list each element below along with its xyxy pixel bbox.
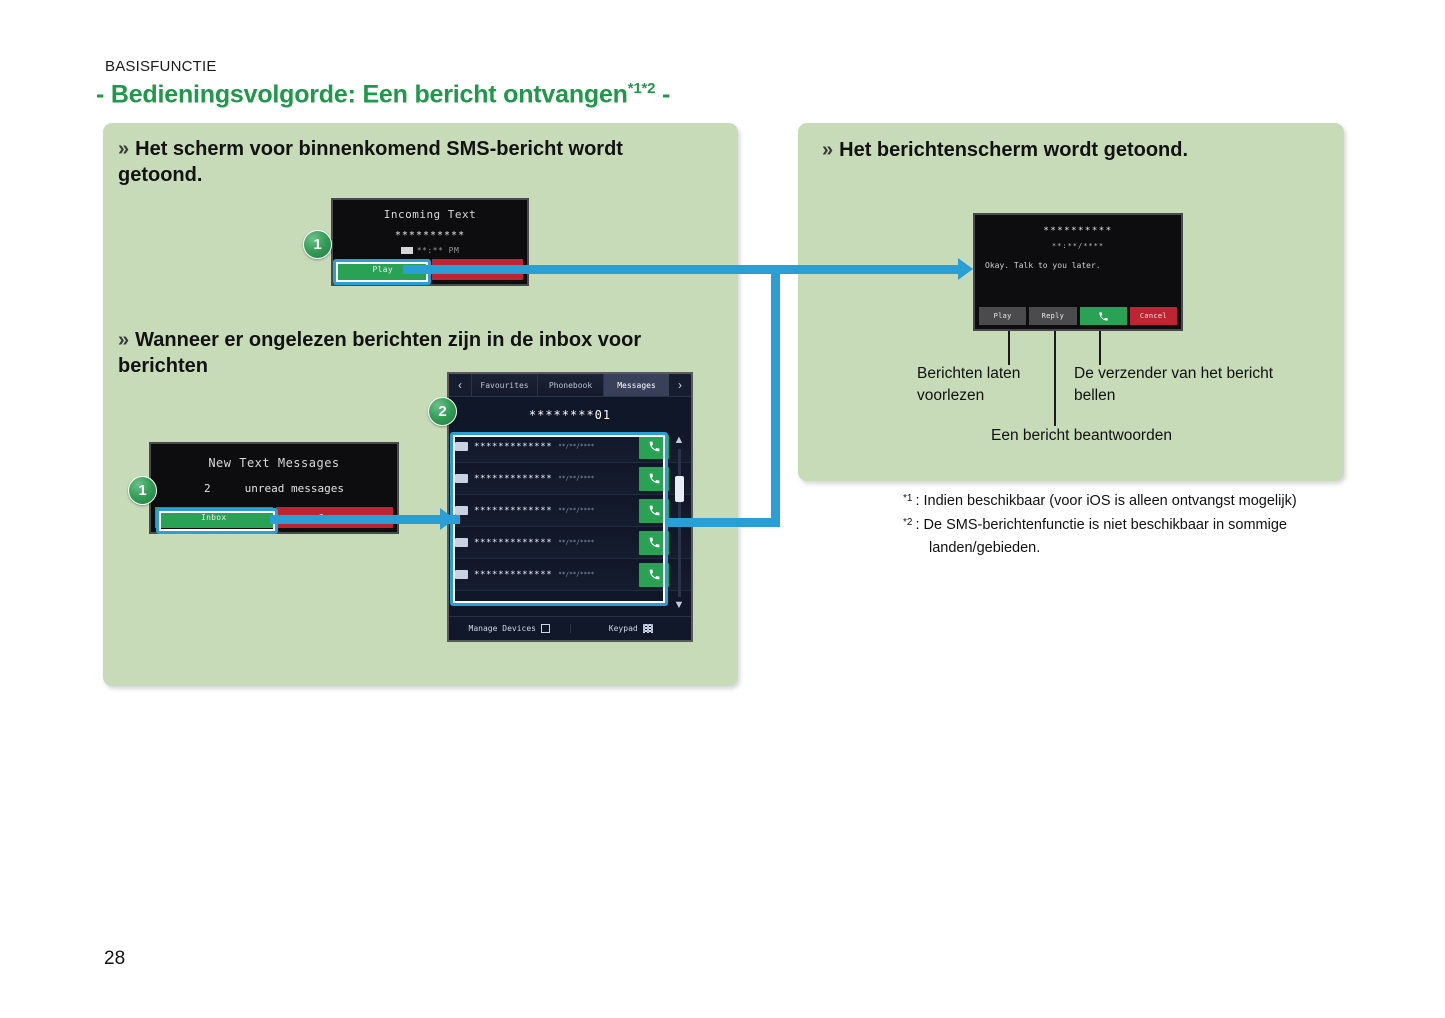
incoming-screen-title: Incoming Text [333,208,527,221]
footnote-1-mark: *1 [903,491,912,515]
footnote-2-continuation: landen/gebieden. [929,538,1353,560]
chevron-up-icon[interactable]: ▲ [674,435,685,446]
arrow-line-row-h [665,518,780,527]
footnotes: *1 : Indien beschikbaar (voor iOS is all… [903,491,1353,560]
list-tabbar: ‹ Favourites Phonebook Messages › [449,374,691,397]
detail-number: **:**/**** [975,242,1181,250]
newmsg-count: 2 [204,482,211,495]
envelope-icon [401,247,413,254]
footnote-1-mark-text: *1 [903,493,912,504]
scrollbar-thumb[interactable] [675,476,684,502]
newmsg-title: New Text Messages [151,456,397,470]
list-screen-title: ********01 [449,397,691,431]
step-badge-1b: 1 [128,476,157,505]
device-icon [541,624,550,633]
list-footer-bar: Manage Devices Keypad [449,616,691,640]
chevron-double-right-icon-3: » [822,139,833,161]
envelope-icon [455,506,468,515]
detail-reply-button[interactable]: Reply [1029,307,1076,325]
footnote-2: *2 : De SMS-berichtenfunctie is niet bes… [903,515,1353,539]
manual-page: BASISFUNCTIE - Bedieningsvolgorde: Een b… [0,0,1445,1018]
message-rows: ************* **/**/**** ************* *… [449,431,691,591]
phone-icon[interactable] [639,563,669,587]
row-sender: ************* [474,442,552,452]
row-date: **/**/**** [558,507,639,514]
table-row[interactable]: ************* **/**/**** [449,431,691,463]
step-1-heading-text: Het scherm voor binnenkomend SMS-bericht… [118,138,623,186]
tab-forward-icon[interactable]: › [669,374,691,396]
detail-button-row: Play Reply Cancel [979,307,1177,325]
page-title-tail: - [655,80,670,108]
footnote-1: *1 : Indien beschikbaar (voor iOS is all… [903,491,1353,515]
callout-call-label: De verzender van het bericht bellen [1074,363,1274,408]
keypad-label: Keypad [609,624,638,633]
leader-line-reply [1054,331,1056,426]
detail-sender: ********** [975,226,1181,236]
arrow-line-inbox [270,515,460,524]
incoming-time-text: **:** PM [417,246,460,255]
step-1-heading: »Het scherm voor binnenkomend SMS-berich… [118,136,708,189]
newmsg-unread-line: 2 unread messages [151,482,397,495]
right-panel-heading: »Het berichtenscherm wordt getoond. [822,137,1322,163]
page-title-footnote-2: *2 [642,80,656,97]
table-row[interactable]: ************* **/**/**** [449,527,691,559]
chevron-double-right-icon-2: » [118,329,129,351]
footnote-2-text: : De SMS-berichtenfunctie is niet beschi… [915,515,1287,539]
page-kicker: BASISFUNCTIE [105,58,217,75]
page-title-main: - Bedieningsvolgorde: Een bericht ontvan… [96,80,628,108]
footnote-2-mark-text: *2 [903,517,912,528]
row-sender: ************* [474,570,552,580]
detail-play-button[interactable]: Play [979,307,1026,325]
arrow-head-inbox [440,508,455,530]
detail-message-body: Okay. Talk to you later. [985,261,1181,270]
envelope-icon [455,570,468,579]
leader-line-play [1008,331,1010,365]
table-row[interactable]: ************* **/**/**** [449,463,691,495]
keypad-button[interactable]: Keypad [570,624,692,633]
right-panel-heading-text: Het berichtenscherm wordt getoond. [839,139,1188,161]
messages-list-screen: ‹ Favourites Phonebook Messages › ******… [447,372,693,642]
arrow-head-top [958,258,973,280]
page-title-footnote-1: *1 [628,80,642,97]
page-title: - Bedieningsvolgorde: Een bericht ontvan… [96,80,670,109]
envelope-icon [455,442,468,451]
row-sender: ************* [474,538,552,548]
table-row[interactable]: ************* **/**/**** [449,559,691,591]
tab-messages[interactable]: Messages [603,374,669,396]
chevron-double-right-icon: » [118,138,129,160]
incoming-sender: ********** [333,230,527,241]
detail-call-button[interactable] [1080,307,1127,325]
leader-line-call [1099,331,1101,365]
footnote-1-text: : Indien beschikbaar (voor iOS is alleen… [915,491,1296,515]
row-date: **/**/**** [558,443,639,450]
phone-icon[interactable] [639,467,669,491]
step-badge-1a: 1 [303,230,332,259]
tab-back-icon[interactable]: ‹ [449,374,471,396]
newmsg-count-label: unread messages [245,482,344,495]
row-date: **/**/**** [558,571,639,578]
phone-icon [1098,311,1109,322]
newmsg-inbox-button[interactable]: Inbox [155,507,273,528]
manage-devices-label: Manage Devices [469,624,536,633]
chevron-down-icon[interactable]: ▼ [674,600,685,611]
incoming-time: **:** PM [333,246,527,255]
row-sender: ************* [474,506,552,516]
row-sender: ************* [474,474,552,484]
tab-favourites[interactable]: Favourites [471,374,537,396]
callout-play-label: Berichten laten voorlezen [917,363,1042,408]
tab-phonebook[interactable]: Phonebook [537,374,603,396]
keypad-grid-icon [643,624,653,633]
step-badge-2: 2 [428,397,457,426]
manage-devices-button[interactable]: Manage Devices [449,624,570,633]
callout-reply-label: Een bericht beantwoorden [991,425,1271,447]
detail-cancel-button[interactable]: Cancel [1130,307,1177,325]
phone-icon[interactable] [639,531,669,555]
table-row[interactable]: ************* **/**/**** [449,495,691,527]
row-date: **/**/**** [558,539,639,546]
arrow-line-row-v [771,265,780,527]
message-detail-screen: ********** **:**/**** Okay. Talk to you … [973,213,1183,331]
step-2-heading-text: Wanneer er ongelezen berichten zijn in d… [118,329,641,377]
phone-icon[interactable] [639,435,669,459]
envelope-icon [455,474,468,483]
row-date: **/**/**** [558,475,639,482]
envelope-icon [455,538,468,547]
arrow-line-top [403,265,966,274]
footnote-2-mark: *2 [903,515,912,539]
page-number: 28 [104,948,125,970]
